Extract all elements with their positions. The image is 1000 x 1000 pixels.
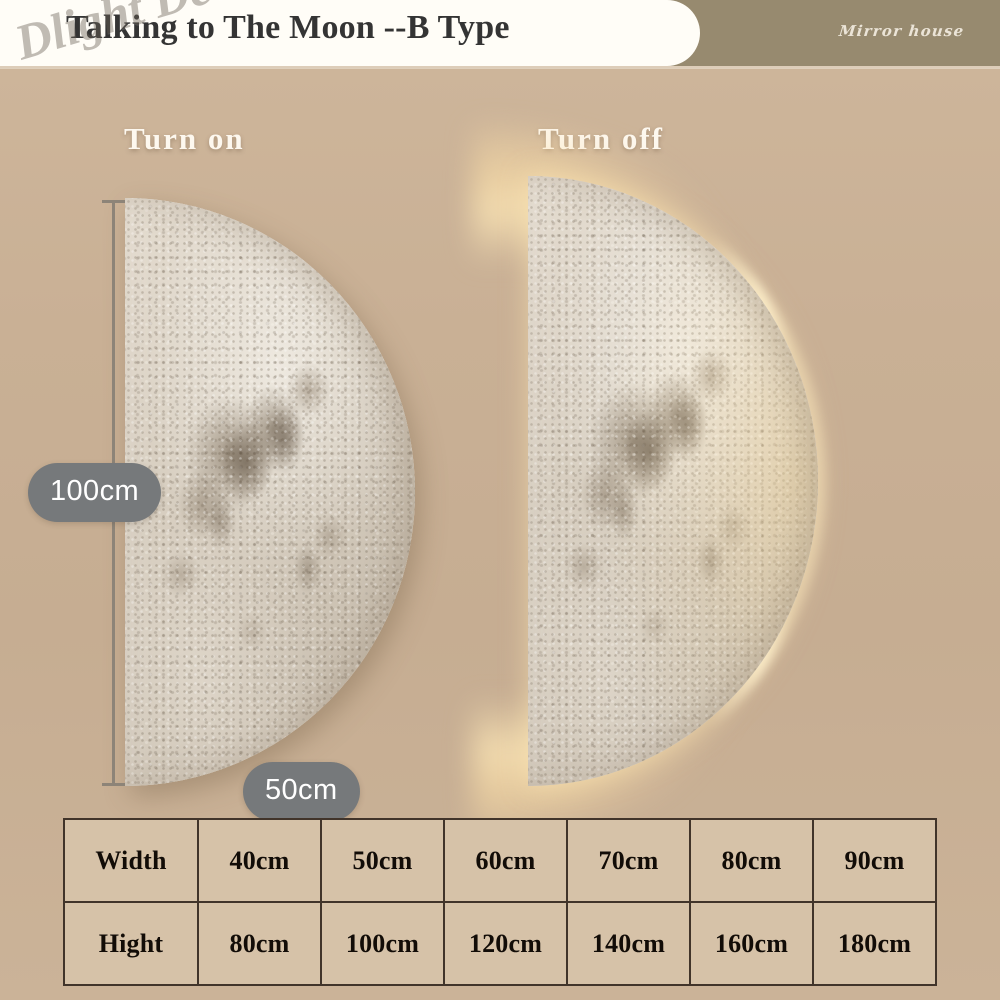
table-cell: 80cm bbox=[198, 902, 321, 985]
table-cell: 100cm bbox=[321, 902, 444, 985]
table-cell: 60cm bbox=[444, 819, 567, 902]
table-cell: 50cm bbox=[321, 819, 444, 902]
moon-half-disc-right bbox=[528, 176, 818, 786]
table-cell: 40cm bbox=[198, 819, 321, 902]
measure-cap-top bbox=[102, 200, 125, 203]
header-underline bbox=[0, 66, 1000, 69]
page-title: Talking to The Moon --B Type bbox=[66, 9, 666, 47]
size-table-body: Width 40cm 50cm 60cm 70cm 80cm 90cm High… bbox=[64, 819, 936, 985]
table-cell: 80cm bbox=[690, 819, 813, 902]
state-label-turn-off: Turn off bbox=[538, 121, 664, 157]
moon-lamp-lit bbox=[528, 176, 818, 786]
height-dimension-badge: 100cm bbox=[28, 463, 161, 522]
moon-lamp-unlit bbox=[125, 198, 415, 786]
moon-half-disc-left bbox=[125, 198, 415, 786]
table-cell: 140cm bbox=[567, 902, 690, 985]
table-cell: 160cm bbox=[690, 902, 813, 985]
table-row: Width 40cm 50cm 60cm 70cm 80cm 90cm bbox=[64, 819, 936, 902]
size-specification-table: Width 40cm 50cm 60cm 70cm 80cm 90cm High… bbox=[63, 818, 937, 986]
product-image-stage: Talking to The Moon --B Type Mirror hous… bbox=[0, 0, 1000, 1000]
table-row-header: Width bbox=[64, 819, 198, 902]
table-cell: 180cm bbox=[813, 902, 936, 985]
measure-cap-bottom bbox=[102, 783, 125, 786]
table-row-header: Hight bbox=[64, 902, 198, 985]
brand-logo: Mirror house bbox=[838, 22, 965, 40]
table-cell: 90cm bbox=[813, 819, 936, 902]
table-cell: 120cm bbox=[444, 902, 567, 985]
table-row: Hight 80cm 100cm 120cm 140cm 160cm 180cm bbox=[64, 902, 936, 985]
table-cell: 70cm bbox=[567, 819, 690, 902]
width-dimension-badge: 50cm bbox=[243, 762, 360, 821]
state-label-turn-on: Turn on bbox=[124, 121, 245, 157]
